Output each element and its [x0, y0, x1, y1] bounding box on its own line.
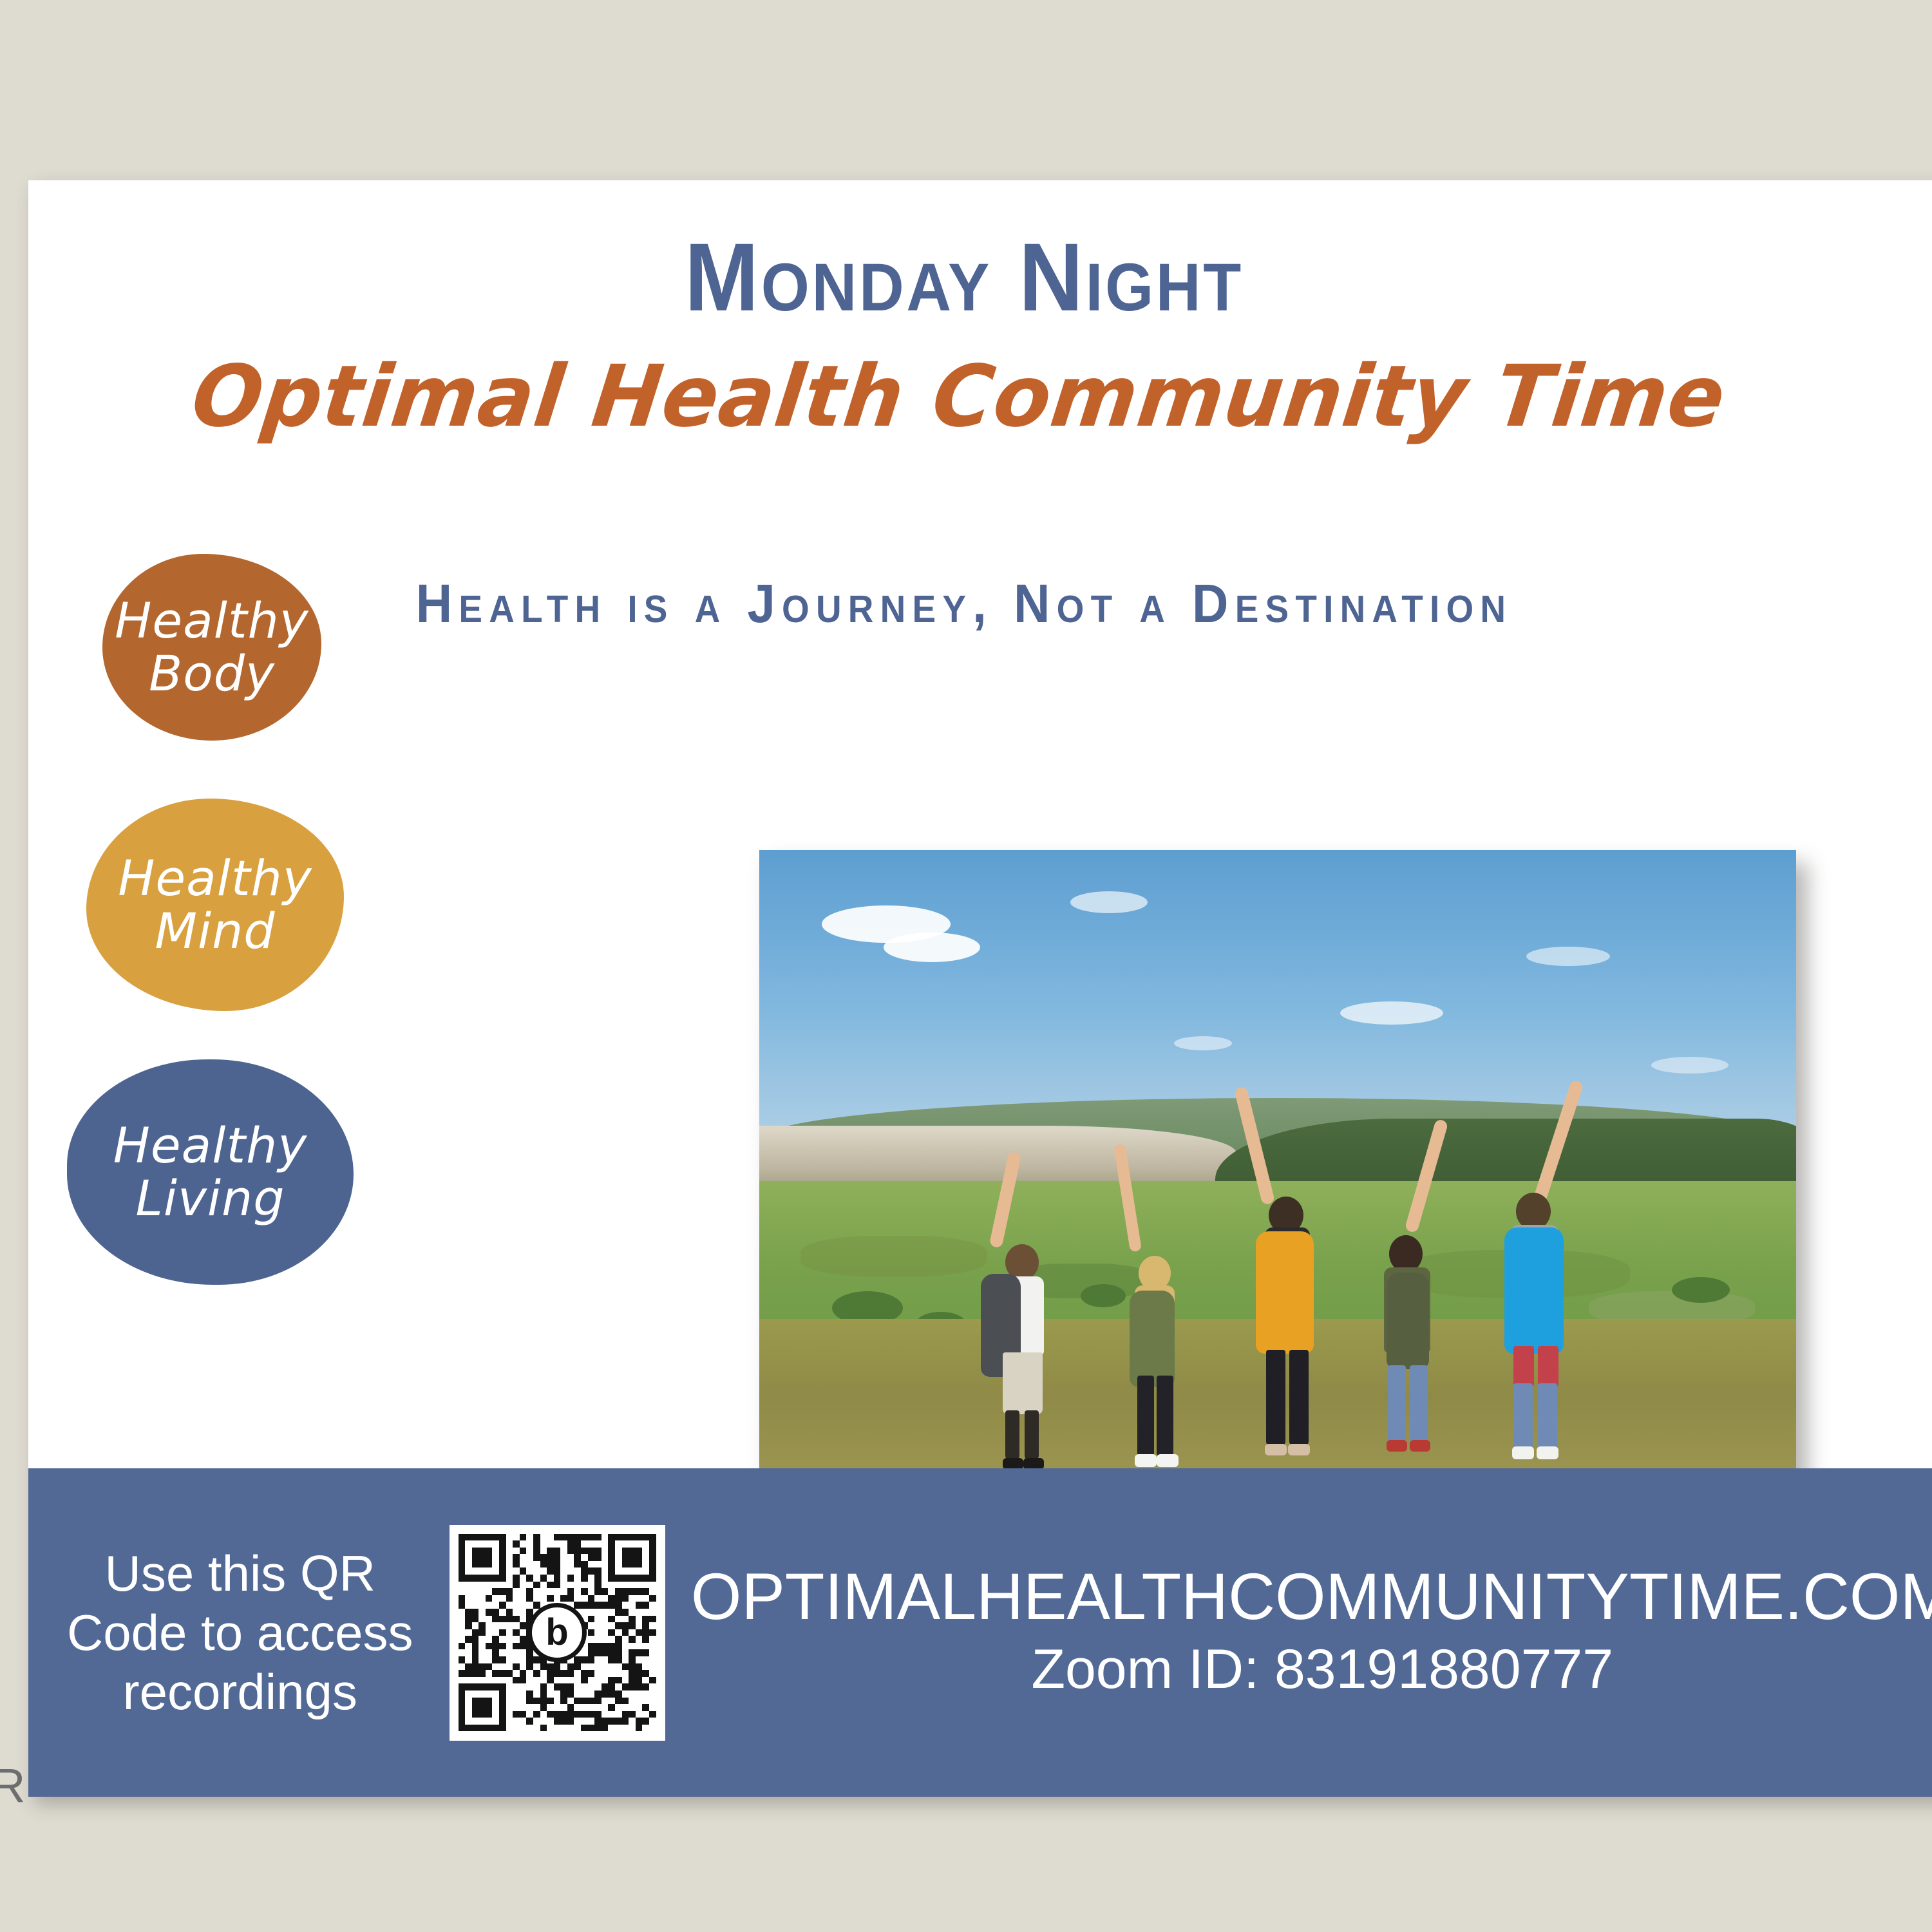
website-url[interactable]: OPTIMALHEALTHCOMMUNITYTIME.COM — [690, 1562, 1932, 1631]
edge-text-artifact: R — [0, 1762, 25, 1810]
footer-contact: OPTIMALHEALTHCOMMUNITYTIME.COM Zoom ID: … — [665, 1562, 1932, 1703]
qr-code[interactable]: b — [450, 1525, 665, 1741]
qr-caption-line-2: Code to access — [54, 1603, 426, 1662]
page-title: Monday Night — [103, 229, 1825, 325]
photo-hiker — [1485, 1181, 1588, 1484]
flyer-card: Monday Night Optimal Health Community Ti… — [28, 180, 1932, 1797]
qr-caption-line-1: Use this QR — [54, 1544, 426, 1603]
subtitle-script: Optimal Health Community Time — [46, 354, 1871, 439]
photo-hiker — [1236, 1181, 1340, 1484]
pillar-living-line2: Living — [113, 1172, 308, 1225]
photo-hiker — [1112, 1213, 1202, 1484]
pillar-healthy-mind: Healthy Mind — [86, 799, 344, 1011]
qr-caption: Use this QR Code to access recordings — [54, 1544, 426, 1721]
hero-photo — [759, 850, 1796, 1539]
zoom-meeting-id: Zoom ID: 83191880777 — [685, 1636, 1932, 1703]
screenshot-stage: R Monday Night Optimal Health Community … — [0, 0, 1932, 1932]
pillar-living-line1: Healthy — [113, 1119, 308, 1172]
pillar-body-line1: Healthy — [115, 594, 309, 647]
pillar-body-line2: Body — [115, 647, 309, 700]
cloud-icon — [1070, 891, 1148, 913]
photo-hiker — [977, 1207, 1074, 1484]
footer-bar: Use this QR Code to access recordings b … — [28, 1468, 1932, 1797]
cloud-icon — [1174, 1036, 1232, 1050]
pillar-mind-line2: Mind — [118, 905, 312, 958]
pillar-healthy-living: Healthy Living — [67, 1059, 354, 1285]
pillar-list: Healthy Body Healthy Mind Healthy Living — [67, 554, 453, 1285]
cloud-icon — [1526, 947, 1610, 966]
bitly-logo-icon: b — [527, 1603, 587, 1662]
pillar-mind-line1: Healthy — [118, 852, 312, 905]
photo-hiker — [1361, 1200, 1457, 1484]
pillar-healthy-body: Healthy Body — [102, 554, 321, 741]
photo-hiker-group — [759, 1057, 1796, 1484]
qr-caption-line-3: recordings — [54, 1662, 426, 1721]
